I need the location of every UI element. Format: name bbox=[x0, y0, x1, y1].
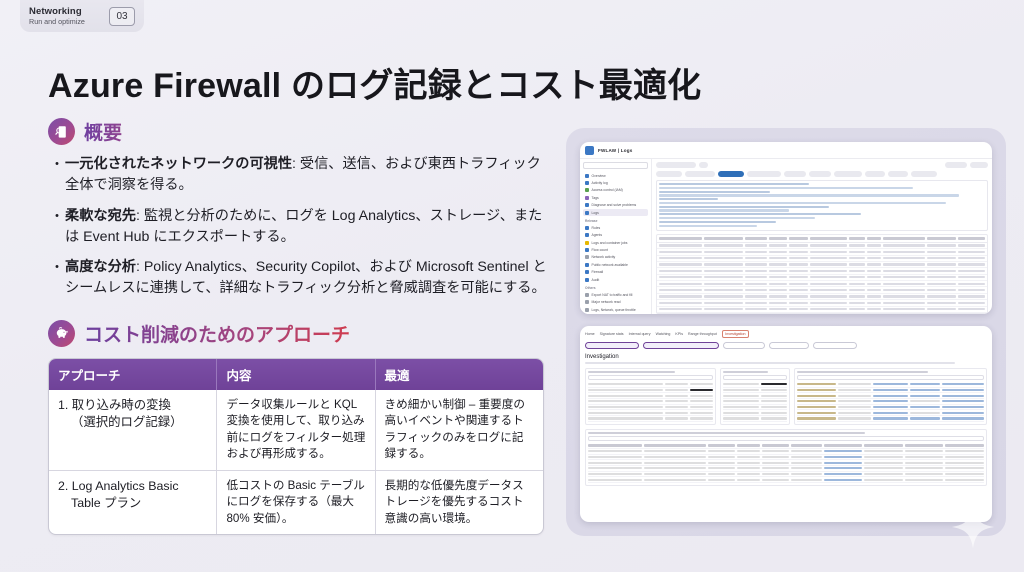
column-header-content: 内容 bbox=[217, 359, 375, 390]
column-header-best: 最適 bbox=[375, 359, 543, 390]
sidebar-group-others: Others bbox=[583, 283, 648, 291]
badge-title: Networking bbox=[29, 7, 109, 17]
investigation-panels bbox=[585, 368, 987, 425]
tab-watching[interactable]: Watching bbox=[656, 332, 671, 336]
list-item: 一元化されたネットワークの可視性: 受信、送信、および東西トラフィック全体で洞察… bbox=[52, 154, 548, 197]
filter-workspace[interactable] bbox=[585, 342, 639, 349]
panel-search-input[interactable] bbox=[588, 375, 713, 380]
bullet-rest: : 監視と分析のために、ログを Log Analytics、ストレージ、または … bbox=[65, 208, 542, 245]
filter-any-internal-set[interactable] bbox=[723, 342, 765, 349]
queries-button[interactable] bbox=[970, 162, 988, 168]
sidebar-item-overview[interactable]: Overview bbox=[583, 172, 648, 179]
panel-signals[interactable] bbox=[585, 368, 716, 425]
investigation-dashboard-screenshot: Home Signature stats Internal query Watc… bbox=[580, 326, 992, 522]
sidebar-item-tags[interactable]: Tags bbox=[583, 194, 648, 201]
sidebar-item-label: Tags bbox=[592, 196, 599, 200]
sidebar-item-diagnose[interactable]: Diagnose and solve problems bbox=[583, 202, 648, 209]
panel-between-query-logs[interactable] bbox=[585, 429, 987, 486]
sidebar-item-label: Major network read bbox=[592, 300, 621, 304]
table-row[interactable] bbox=[723, 416, 787, 422]
cell-content: 低コストの Basic テーブルにログを保存する（最大 80% 安価）。 bbox=[217, 470, 375, 534]
cell-best: 長期的な低優先度データストレージを優先するコスト意識の高い環境。 bbox=[375, 470, 543, 534]
run-button[interactable] bbox=[718, 171, 744, 177]
chart-type-button[interactable] bbox=[911, 171, 937, 177]
azure-portal-screenshots-panel: FWLAW | Logs Overview Activity log Acces… bbox=[566, 128, 1006, 536]
sparkle-icon bbox=[950, 504, 996, 550]
table-button[interactable] bbox=[865, 171, 885, 177]
cell-approach: 2. Log Analytics Basic Table プラン bbox=[49, 470, 217, 534]
sidebar-item-public-network[interactable]: Public network available bbox=[583, 261, 648, 268]
cost-heading: コスト削減のためのアプローチ bbox=[84, 320, 350, 347]
query-tab-bar[interactable] bbox=[656, 162, 988, 168]
sidebar-item-queue-throttle[interactable]: Logs, Network, queue throttle bbox=[583, 306, 648, 313]
azure-sidebar[interactable]: Overview Activity log Access control (IA… bbox=[580, 159, 652, 314]
sidebar-item-agents[interactable]: Agents bbox=[583, 232, 648, 239]
overview-heading: 概要 bbox=[84, 118, 122, 145]
sidebar-item-major-network[interactable]: Major network read bbox=[583, 299, 648, 306]
panel-title bbox=[797, 371, 928, 373]
sidebar-item-label: Activity log bbox=[592, 181, 608, 185]
sidebar-item-flow-count[interactable]: Flow count bbox=[583, 246, 648, 253]
panel-search-input[interactable] bbox=[797, 375, 984, 380]
sidebar-item-label: Access control (IAM) bbox=[592, 188, 623, 192]
kql-code-editor[interactable] bbox=[656, 180, 988, 231]
sidebar-item-label: Flow count bbox=[592, 248, 608, 252]
panel-title bbox=[588, 371, 675, 373]
table-row[interactable] bbox=[797, 416, 984, 422]
tab-range-throughput[interactable]: Range throughput bbox=[688, 332, 717, 336]
cost-section-header: コスト削減のためのアプローチ bbox=[48, 320, 548, 347]
azure-portal-body: Overview Activity log Access control (IA… bbox=[580, 159, 992, 314]
badge-subtitle: Run and optimize bbox=[29, 18, 109, 26]
overview-section-header: 概要 bbox=[48, 118, 548, 145]
section-badge: Networking Run and optimize 03 bbox=[20, 0, 144, 32]
overview-bullet-list: 一元化されたネットワークの可視性: 受信、送信、および東西トラフィック全体で洞察… bbox=[52, 154, 548, 300]
results-header-row bbox=[657, 235, 987, 242]
table-row[interactable] bbox=[657, 307, 987, 313]
sidebar-item-label: Logs and container jobs bbox=[592, 241, 628, 245]
approach-line-1: 2. Log Analytics Basic bbox=[58, 479, 179, 493]
fill-button[interactable] bbox=[888, 171, 908, 177]
sidebar-item-label: Export NAT to traffic and fill bbox=[592, 293, 633, 297]
panel-title bbox=[588, 432, 865, 434]
sidebar-nav[interactable]: Overview Activity log Access control (IA… bbox=[583, 172, 648, 314]
cell-content: データ収集ルールと KQL 変換を使用して、取り込み前にログをフィルター処理およ… bbox=[217, 390, 375, 470]
cost-approach-table-wrapper: アプローチ 内容 最適 1. 取り込み時の変換 （選択的ログ記録） データ収集ル… bbox=[48, 358, 544, 535]
sidebar-search-input[interactable] bbox=[583, 162, 648, 169]
table-row: 2. Log Analytics Basic Table プラン 低コストの B… bbox=[49, 470, 543, 534]
save-button[interactable] bbox=[784, 171, 806, 177]
content-left-column: 概要 一元化されたネットワークの可視性: 受信、送信、および東西トラフィック全体… bbox=[48, 118, 548, 535]
tab-kpis[interactable]: KPIs bbox=[675, 332, 683, 336]
sidebar-item-logs-container-jobs[interactable]: Logs and container jobs bbox=[583, 239, 648, 246]
tab-add-button[interactable] bbox=[699, 162, 708, 168]
cell-approach: 1. 取り込み時の変換 （選択的ログ記録） bbox=[49, 390, 217, 470]
filter-pill-row[interactable] bbox=[585, 342, 987, 349]
azure-portal-header: FWLAW | Logs bbox=[580, 142, 992, 159]
table-row: 1. 取り込み時の変換 （選択的ログ記録） データ収集ルールと KQL 変換を使… bbox=[49, 390, 543, 470]
table-row[interactable] bbox=[588, 477, 984, 483]
filter-firewall[interactable] bbox=[643, 342, 719, 349]
slide: Networking Run and optimize 03 Azure Fir… bbox=[0, 0, 1024, 572]
sidebar-item-label: Public network available bbox=[592, 263, 628, 267]
approach-line-2: （選択的ログ記録） bbox=[58, 414, 207, 432]
azure-logs-query-screenshot: FWLAW | Logs Overview Activity log Acces… bbox=[580, 142, 992, 314]
cell-best: きめ細かい制御 – 重要度の高いイベントや関連するトラフィックのみをログに記録す… bbox=[375, 390, 543, 470]
magnifier-document-icon bbox=[48, 118, 75, 145]
column-header-approach: アプローチ bbox=[49, 359, 217, 390]
sidebar-item-audit[interactable]: Audit bbox=[583, 276, 648, 283]
cost-approach-table: アプローチ 内容 最適 1. 取り込み時の変換 （選択的ログ記録） データ収集ル… bbox=[49, 359, 543, 534]
panel-search-input[interactable] bbox=[723, 375, 787, 380]
share-button[interactable] bbox=[809, 171, 831, 177]
sidebar-item-label: Agents bbox=[592, 233, 603, 237]
sidebar-item-firewall[interactable]: Firewall bbox=[583, 269, 648, 276]
tab-investigation[interactable]: Investigation bbox=[722, 330, 749, 338]
sidebar-group-release: Release bbox=[583, 216, 648, 224]
feedback-button[interactable] bbox=[945, 162, 967, 168]
list-item: 高度な分析: Policy Analytics、Security Copilot… bbox=[52, 257, 548, 300]
table-header-row: アプローチ 内容 最適 bbox=[49, 359, 543, 390]
panel-threads[interactable] bbox=[720, 368, 790, 425]
query-results-grid[interactable] bbox=[656, 234, 988, 314]
azure-logo-icon bbox=[585, 146, 594, 155]
bullet-lead: 一元化されたネットワークの可視性 bbox=[65, 156, 292, 172]
sidebar-item-label: Rules bbox=[592, 226, 601, 230]
filter-any-flag-set[interactable] bbox=[769, 342, 809, 349]
sidebar-item-label: Logs, Network, queue throttle bbox=[592, 308, 636, 312]
dashboard-tab-bar[interactable]: Home Signature stats Internal query Watc… bbox=[585, 330, 987, 338]
sidebar-item-network-activity[interactable]: Network activity bbox=[583, 254, 648, 261]
badge-number: 03 bbox=[109, 7, 135, 26]
azure-query-pane bbox=[652, 159, 992, 314]
sidebar-item-rim-from-trial[interactable]: Report, firewall, rim from trial bbox=[583, 313, 648, 314]
panel-decision-rating[interactable] bbox=[794, 368, 987, 425]
sidebar-item-export-nat[interactable]: Export NAT to traffic and fill bbox=[583, 291, 648, 298]
toolbar-time-range[interactable] bbox=[747, 171, 781, 177]
toolbar-release[interactable] bbox=[656, 171, 682, 177]
page-title: Azure Firewall のログ記録とコスト最適化 bbox=[48, 58, 701, 107]
tab-signature-stats[interactable]: Signature stats bbox=[600, 332, 624, 336]
export-button[interactable] bbox=[834, 171, 862, 177]
sidebar-item-rules[interactable]: Rules bbox=[583, 224, 648, 231]
tab-internal-query[interactable]: Internal query bbox=[629, 332, 651, 336]
approach-line-2: Table プラン bbox=[58, 495, 207, 513]
badge-texts: Networking Run and optimize bbox=[29, 7, 109, 26]
tab-select-object[interactable] bbox=[656, 162, 696, 168]
azure-resource-title: FWLAW | Logs bbox=[598, 148, 633, 153]
query-toolbar[interactable] bbox=[656, 171, 988, 177]
sidebar-item-label: Logs bbox=[592, 211, 599, 215]
filter-new-network-log[interactable] bbox=[813, 342, 857, 349]
approach-line-1: 1. 取り込み時の変換 bbox=[58, 398, 171, 412]
panel-title bbox=[723, 371, 768, 373]
sidebar-item-access-control[interactable]: Access control (IAM) bbox=[583, 187, 648, 194]
sidebar-item-label: Overview bbox=[592, 174, 606, 178]
sidebar-item-label: Firewall bbox=[592, 270, 604, 274]
investigation-description bbox=[585, 362, 955, 364]
sidebar-item-label: Network activity bbox=[592, 255, 616, 259]
panel-search-input[interactable] bbox=[588, 436, 984, 441]
sidebar-item-logs[interactable]: Logs bbox=[583, 209, 648, 216]
sidebar-item-label: Audit bbox=[592, 278, 600, 282]
list-item: 柔軟な宛先: 監視と分析のために、ログを Log Analytics、ストレージ… bbox=[52, 206, 548, 249]
table-row[interactable] bbox=[588, 416, 713, 422]
piggy-bank-icon bbox=[48, 320, 75, 347]
sidebar-item-activity-log[interactable]: Activity log bbox=[583, 179, 648, 186]
tab-home[interactable]: Home bbox=[585, 332, 595, 336]
bullet-lead: 高度な分析 bbox=[65, 259, 136, 275]
sidebar-item-label: Diagnose and solve problems bbox=[592, 203, 637, 207]
toolbar-current-scope[interactable] bbox=[685, 171, 715, 177]
investigation-body: Home Signature stats Internal query Watc… bbox=[580, 326, 992, 522]
bullet-lead: 柔軟な宛先 bbox=[65, 208, 136, 224]
investigation-heading: Investigation bbox=[585, 354, 987, 360]
bullet-rest: : Policy Analytics、Security Copilot、および … bbox=[65, 259, 547, 296]
